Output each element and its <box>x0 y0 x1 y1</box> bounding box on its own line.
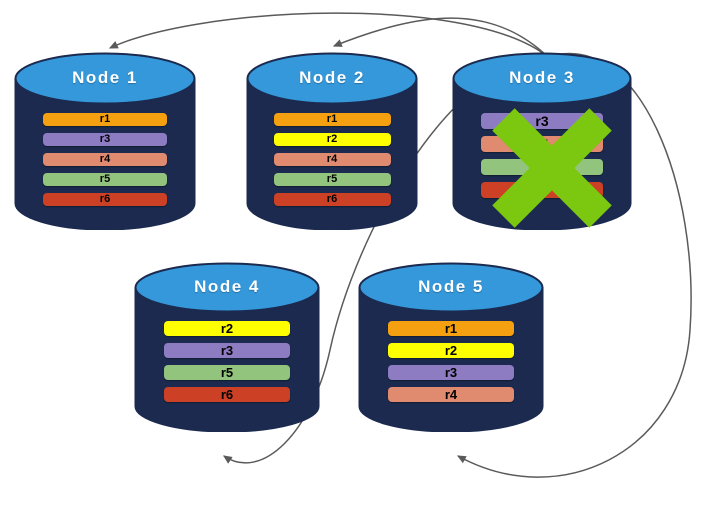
node-title-label: Node 4 <box>134 277 320 297</box>
replica-bar-r3[interactable]: r3 <box>43 133 167 146</box>
replica-bar-r6[interactable]: r6 <box>164 387 290 402</box>
replica-list: r1r3r4r5r6 <box>14 113 196 206</box>
database-node-3[interactable]: Node 3r3r4r5r6 <box>452 52 632 230</box>
node-failed-x-icon <box>486 102 618 234</box>
database-node-5[interactable]: Node 5r1r2r3r4 <box>358 262 544 432</box>
node-title-label: Node 2 <box>246 68 418 88</box>
replica-bar-r1[interactable]: r1 <box>43 113 167 126</box>
node-title-label: Node 3 <box>452 68 632 88</box>
replica-list: r1r2r3r4 <box>358 321 544 402</box>
replica-bar-r3[interactable]: r3 <box>164 343 290 358</box>
replica-bar-r6[interactable]: r6 <box>43 193 167 206</box>
replica-bar-r3[interactable]: r3 <box>388 365 514 380</box>
database-node-2[interactable]: Node 2r1r2r4r5r6 <box>246 52 418 230</box>
replica-bar-r4[interactable]: r4 <box>43 153 167 166</box>
replica-bar-r4[interactable]: r4 <box>388 387 514 402</box>
replica-bar-r5[interactable]: r5 <box>43 173 167 186</box>
replica-bar-r6[interactable]: r6 <box>274 193 391 206</box>
replica-list: r2r3r5r6 <box>134 321 320 402</box>
arrow-to-node-1 <box>110 13 548 57</box>
database-node-1[interactable]: Node 1r1r3r4r5r6 <box>14 52 196 230</box>
replica-bar-r2[interactable]: r2 <box>388 343 514 358</box>
diagram-canvas: Node 1r1r3r4r5r6Node 2r1r2r4r5r6Node 3r3… <box>0 0 708 508</box>
replica-bar-r4[interactable]: r4 <box>274 153 391 166</box>
node-title-label: Node 5 <box>358 277 544 297</box>
database-node-4[interactable]: Node 4r2r3r5r6 <box>134 262 320 432</box>
replica-bar-r2[interactable]: r2 <box>164 321 290 336</box>
replica-bar-r5[interactable]: r5 <box>164 365 290 380</box>
replica-list: r1r2r4r5r6 <box>246 113 418 206</box>
replica-bar-r1[interactable]: r1 <box>274 113 391 126</box>
replica-bar-r5[interactable]: r5 <box>274 173 391 186</box>
node-title-label: Node 1 <box>14 68 196 88</box>
replica-bar-r2[interactable]: r2 <box>274 133 391 146</box>
replica-bar-r1[interactable]: r1 <box>388 321 514 336</box>
